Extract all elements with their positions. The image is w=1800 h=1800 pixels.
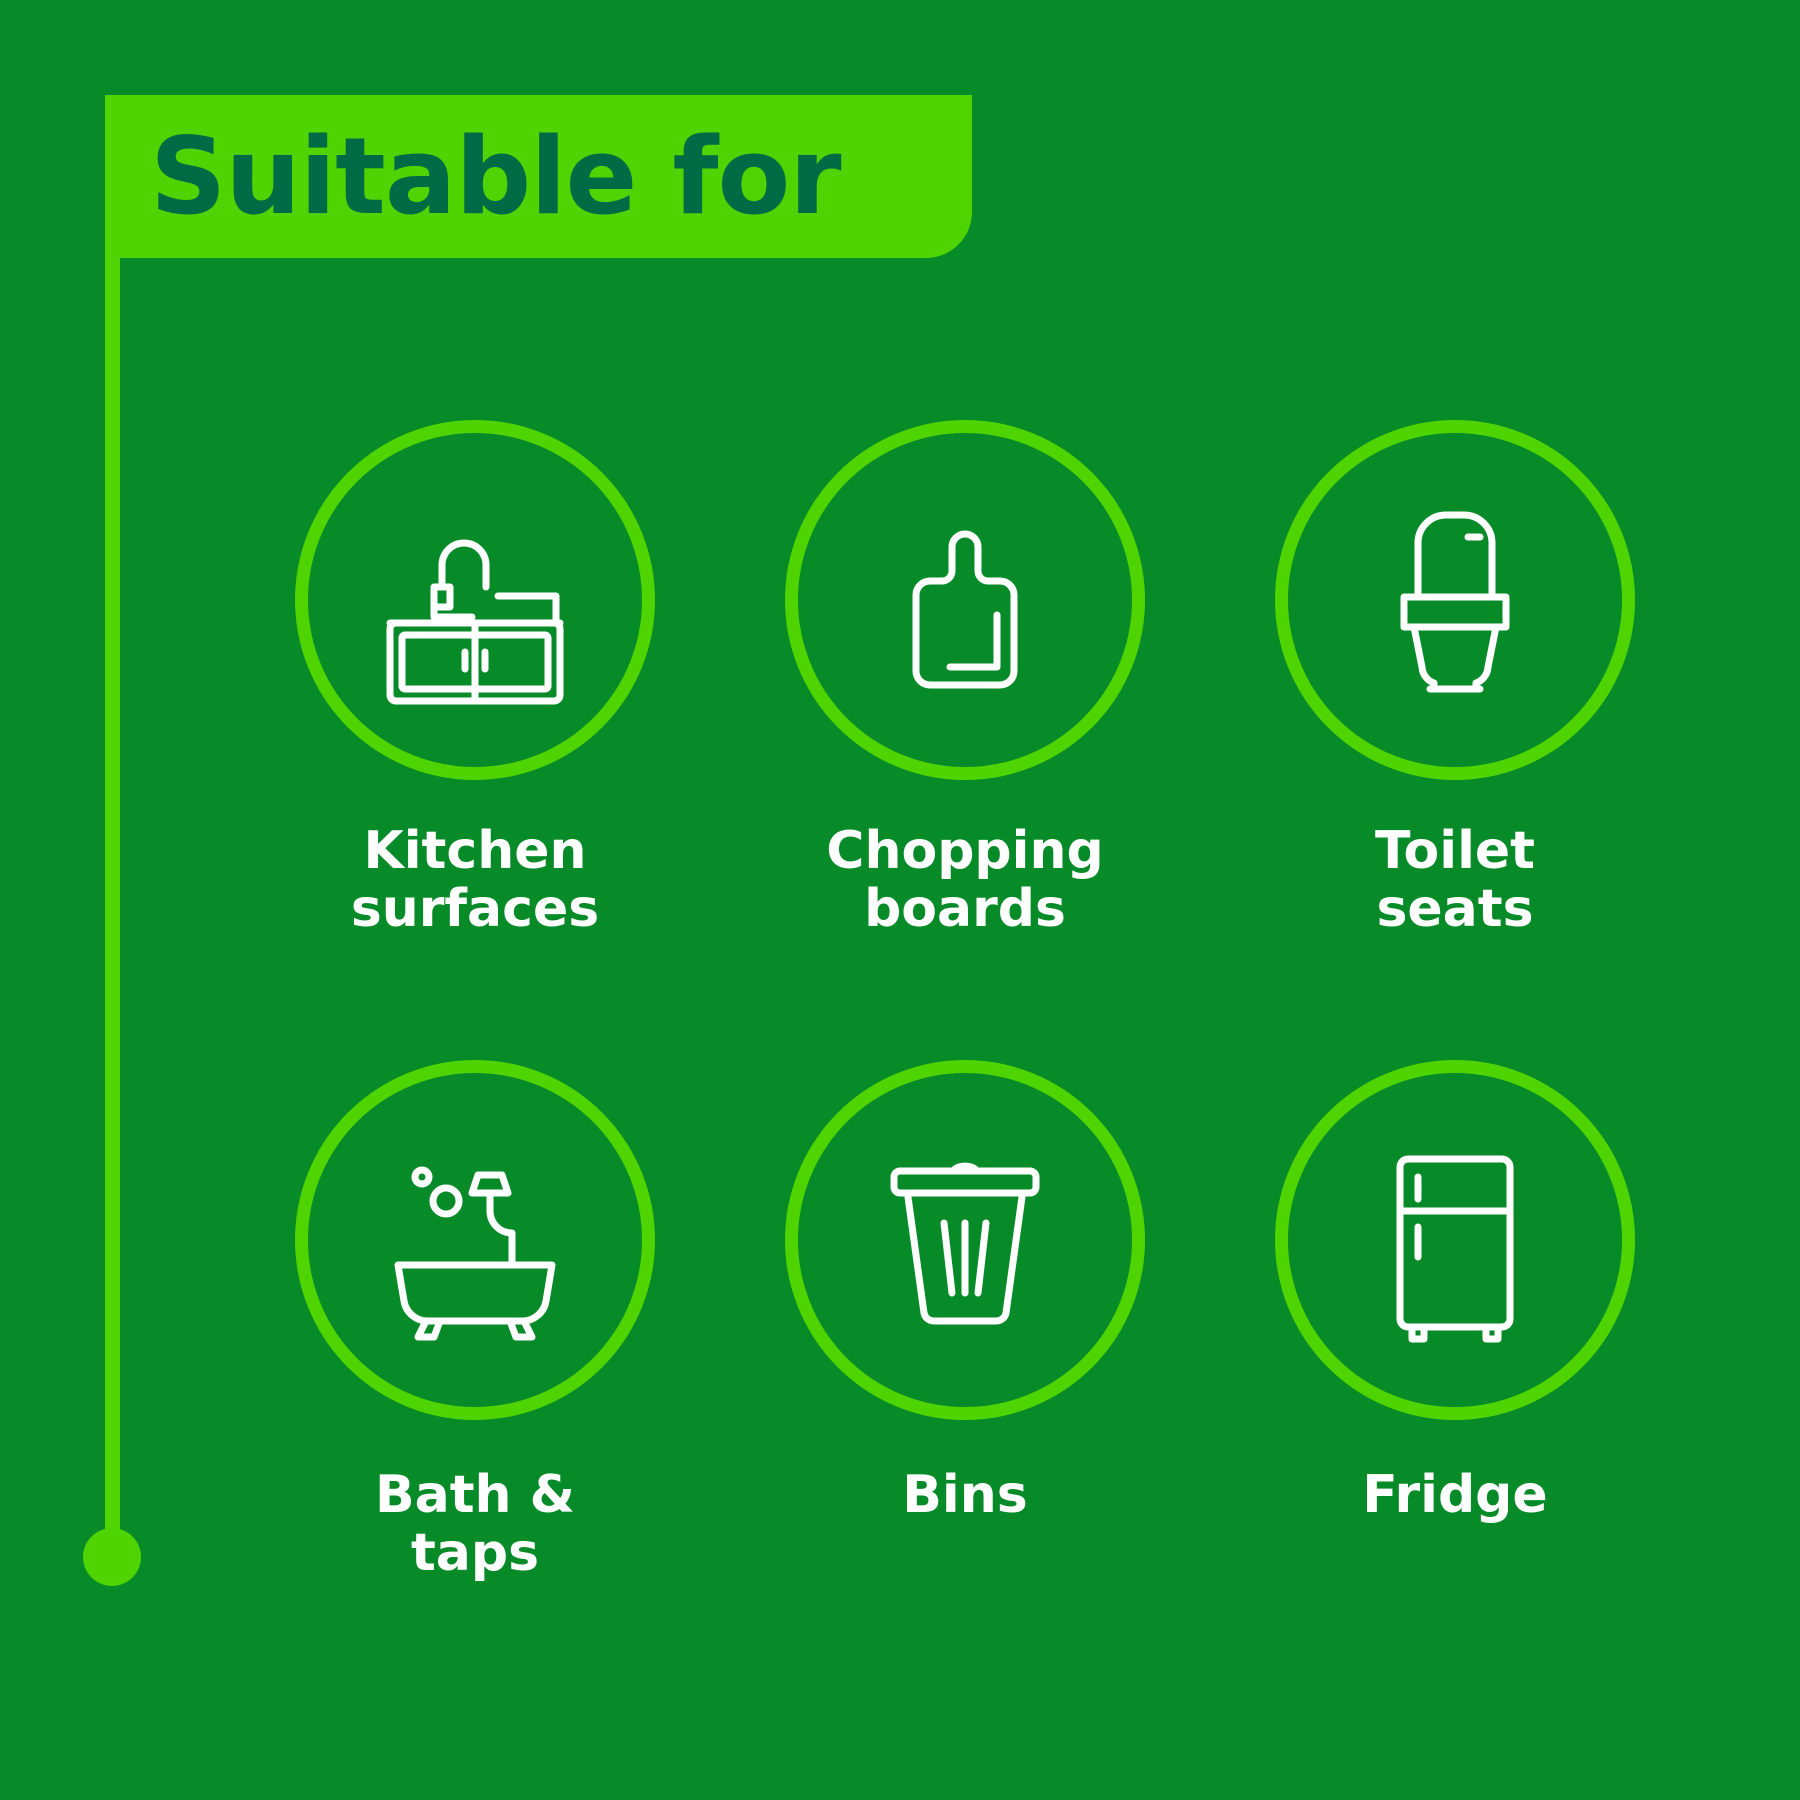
icon-ring-fridge	[1275, 1060, 1635, 1420]
grid-item-label: Chopping boards	[826, 822, 1103, 938]
icon-ring-kitchen-surfaces	[295, 420, 655, 780]
toilet-icon	[1330, 475, 1580, 725]
grid-item-chopping-boards[interactable]: Chopping boards	[720, 420, 1210, 1060]
header-banner: Suitable for	[112, 95, 972, 258]
icon-ring-chopping-boards	[785, 420, 1145, 780]
grid-item-fridge[interactable]: Fridge	[1210, 1060, 1700, 1700]
grid-item-bins[interactable]: Bins	[720, 1060, 1210, 1700]
grid-item-bath-taps[interactable]: Bath & taps	[230, 1060, 720, 1700]
grid-item-toilet-seats[interactable]: Toilet seats	[1210, 420, 1700, 1060]
page-title: Suitable for	[150, 124, 841, 230]
icon-ring-toilet-seats	[1275, 420, 1635, 780]
accent-dot	[83, 1528, 141, 1586]
grid-item-label: Bins	[902, 1466, 1027, 1524]
grid-item-label: Kitchen surfaces	[351, 822, 599, 938]
grid-item-label: Toilet seats	[1375, 822, 1535, 938]
icon-ring-bins	[785, 1060, 1145, 1420]
bathtub-icon	[350, 1115, 600, 1365]
grid-item-label: Bath & taps	[375, 1466, 575, 1582]
grid-item-kitchen-surfaces[interactable]: Kitchen surfaces	[230, 420, 720, 1060]
fridge-icon	[1330, 1115, 1580, 1365]
vertical-accent-line	[105, 95, 120, 1565]
bin-icon	[840, 1115, 1090, 1365]
suitable-for-grid: Kitchen surfaces Chopping boards	[230, 420, 1700, 1620]
grid-item-label: Fridge	[1362, 1466, 1547, 1524]
chopping-board-icon	[840, 475, 1090, 725]
poster-canvas: Suitable for	[0, 0, 1800, 1800]
icon-ring-bath-taps	[295, 1060, 655, 1420]
kitchen-sink-icon	[350, 475, 600, 725]
